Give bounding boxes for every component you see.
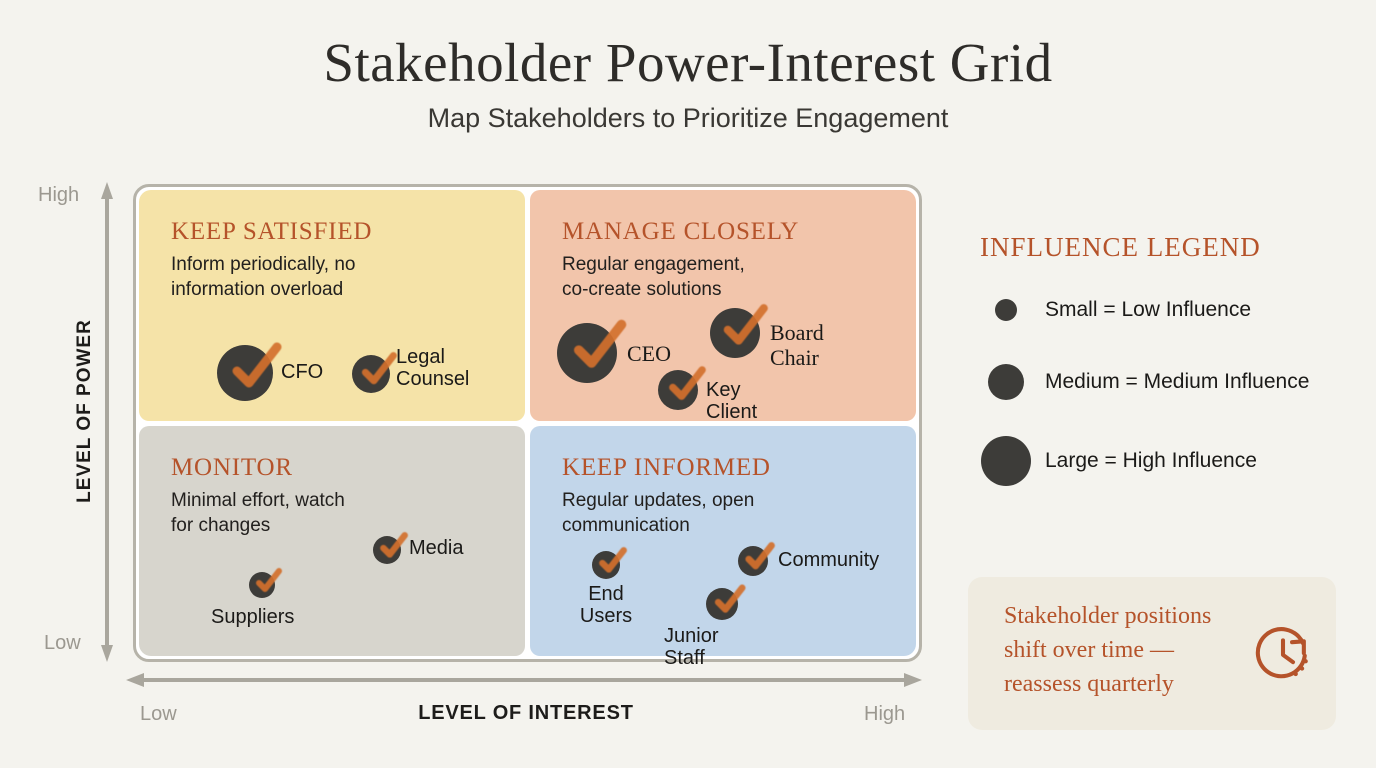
stakeholder-dot (738, 546, 768, 576)
quadrant-heading: KEEP INFORMED (562, 454, 771, 482)
stakeholder-label: Legal Counsel (396, 346, 469, 391)
quadrant-description: Regular engagement, co-create solutions (562, 252, 745, 302)
quadrant-description: Minimal effort, watch for changes (171, 488, 345, 538)
stakeholder-label: Media (409, 537, 463, 559)
quadrant-heading: MONITOR (171, 454, 293, 482)
quadrant-description: Inform periodically, no information over… (171, 252, 355, 302)
quadrant-heading: MANAGE CLOSELY (562, 218, 799, 246)
quadrant-monitor[interactable]: MONITOR Minimal effort, watch for change… (139, 426, 525, 657)
legend-title: INFLUENCE LEGEND (980, 232, 1261, 263)
quadrant-keep-satisfied[interactable]: KEEP SATISFIED Inform periodically, no i… (139, 190, 525, 421)
note-text: Stakeholder positions shift over time — … (1004, 599, 1274, 701)
y-axis-title: LEVEL OF POWER (74, 311, 96, 511)
stakeholder-label: Community (778, 549, 879, 571)
quadrant-heading: KEEP SATISFIED (171, 218, 372, 246)
legend-label: Medium = Medium Influence (1045, 370, 1309, 394)
legend-item-large: Large = High Influence (975, 436, 1257, 486)
note-box: Stakeholder positions shift over time — … (968, 577, 1336, 730)
stakeholder-dot (710, 308, 760, 358)
stakeholder-dot (592, 551, 620, 579)
quadrant-grid: KEEP SATISFIED Inform periodically, no i… (139, 190, 916, 656)
stakeholder-label: Board Chair (770, 321, 824, 370)
stakeholder-dot (217, 345, 273, 401)
page-title: Stakeholder Power-Interest Grid (0, 34, 1376, 92)
clock-rotate-icon (1254, 625, 1312, 683)
stakeholder-label: CFO (281, 361, 323, 383)
x-axis-title: LEVEL OF INTEREST (326, 702, 726, 725)
quadrant-manage-closely[interactable]: MANAGE CLOSELY Regular engagement, co-cr… (530, 190, 916, 421)
stakeholder-label: Key Client (706, 379, 757, 424)
y-axis-high-label: High (38, 184, 79, 207)
quadrant-keep-informed[interactable]: KEEP INFORMED Regular updates, open comm… (530, 426, 916, 657)
legend-label: Small = Low Influence (1045, 298, 1251, 322)
stakeholder-dot (557, 323, 617, 383)
stakeholder-dot (373, 536, 401, 564)
y-axis-arrow-icon (100, 182, 114, 662)
x-axis-arrow-icon (126, 672, 922, 688)
y-axis-low-label: Low (44, 632, 81, 655)
stakeholder-dot (658, 370, 698, 410)
legend-dot-medium-icon (988, 364, 1024, 400)
stakeholder-label: Suppliers (211, 606, 294, 628)
stakeholder-dot (706, 588, 738, 620)
stakeholder-label: CEO (627, 342, 671, 367)
legend-swatch (975, 364, 1037, 400)
stakeholder-label: End Users (575, 583, 637, 628)
legend-item-medium: Medium = Medium Influence (975, 364, 1309, 400)
stakeholder-dot (249, 572, 275, 598)
x-axis-high-label: High (864, 703, 905, 726)
legend-swatch (975, 436, 1037, 486)
legend-dot-small-icon (995, 299, 1017, 321)
stakeholder-label: Junior Staff (664, 625, 718, 670)
stakeholder-dot (352, 355, 390, 393)
legend-label: Large = High Influence (1045, 449, 1257, 473)
header: Stakeholder Power-Interest Grid Map Stak… (0, 0, 1376, 133)
legend-swatch (975, 299, 1037, 321)
page-subtitle: Map Stakeholders to Prioritize Engagemen… (0, 104, 1376, 134)
legend-dot-large-icon (981, 436, 1031, 486)
legend-item-small: Small = Low Influence (975, 298, 1251, 322)
x-axis-low-label: Low (140, 703, 177, 726)
quadrant-description: Regular updates, open communication (562, 488, 754, 538)
